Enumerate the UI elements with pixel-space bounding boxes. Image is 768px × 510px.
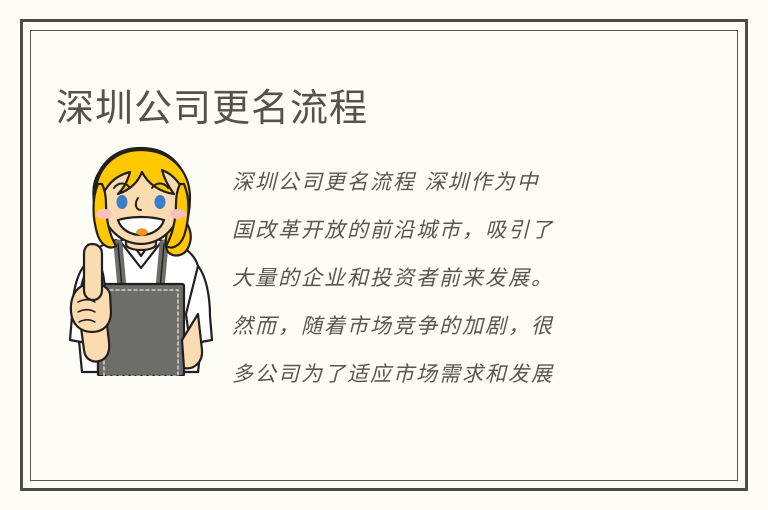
eye-right: [155, 195, 166, 209]
body-line: 多公司为了适应市场需求和发展: [232, 350, 656, 398]
body-line: 大量的企业和投资者前来发展。: [232, 254, 656, 302]
blush-left: [96, 209, 112, 219]
body-line: 然而，随着市场竞争的加剧，很: [232, 302, 656, 350]
eye-left: [117, 195, 128, 209]
page-title: 深圳公司更名流程: [56, 87, 368, 131]
illustration-smiling-woman-pointing-up: [58, 144, 224, 376]
body-line: 深圳公司更名流程 深圳作为中: [232, 158, 656, 206]
body-line: 国改革开放的前沿城市，吸引了: [232, 206, 656, 254]
blush-right: [170, 209, 186, 219]
index-finger: [84, 244, 102, 300]
article-body: 深圳公司更名流程 深圳作为中 国改革开放的前沿城市，吸引了 大量的企业和投资者前…: [232, 158, 656, 398]
article-card: 深圳公司更名流程: [0, 0, 768, 510]
